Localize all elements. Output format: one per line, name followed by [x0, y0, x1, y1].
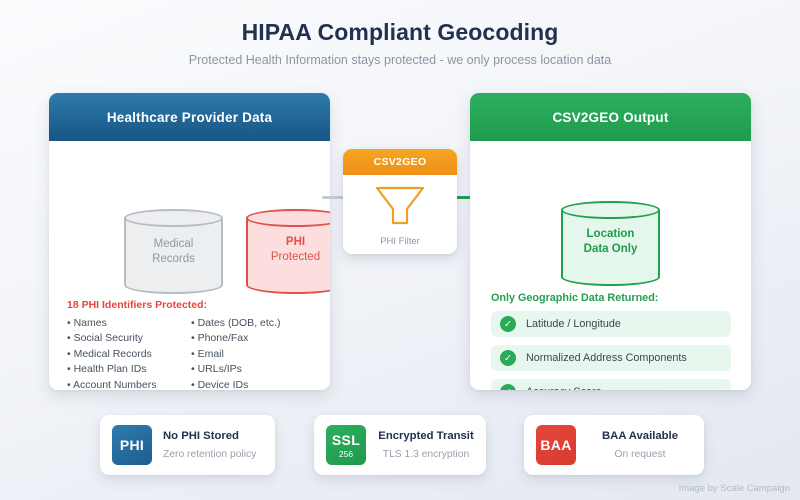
- location-data-cylinder-icon: Location Data Only: [561, 201, 660, 286]
- badge-card-baa-available: BAA BAA Available On request: [524, 415, 704, 475]
- check-circle-icon: ✓: [500, 316, 516, 332]
- badge-title: BAA Available: [584, 429, 696, 444]
- list-item: URLs/IPs: [191, 362, 315, 377]
- geographic-data-list: ✓ Latitude / Longitude ✓ Normalized Addr…: [491, 311, 731, 390]
- badge-card-encrypted-transit: SSL 256 Encrypted Transit TLS 1.3 encryp…: [314, 415, 486, 475]
- list-item: Names: [67, 316, 191, 331]
- list-item-label: Accuracy Score: [526, 386, 602, 390]
- healthcare-provider-panel: Healthcare Provider Data Medical Records…: [49, 93, 330, 390]
- page-subtitle: Protected Health Information stays prote…: [0, 53, 800, 67]
- csv2geo-node-caption: PHI Filter: [343, 236, 457, 247]
- left-panel-header: Healthcare Provider Data: [49, 93, 330, 141]
- medical-records-label: Medical Records: [124, 237, 223, 267]
- list-item: Phone/Fax: [191, 331, 315, 346]
- list-item: Dates (DOB, etc.): [191, 316, 315, 331]
- phi-cylinder-label: PHI Protected: [246, 235, 330, 265]
- phi-cylinder-icon: PHI Protected: [246, 209, 330, 294]
- list-item: Social Security: [67, 331, 191, 346]
- badge-card-no-phi-stored: PHI No PHI Stored Zero retention policy: [100, 415, 275, 475]
- connector-input-line: [322, 196, 344, 199]
- list-item: Medical Records: [67, 347, 191, 362]
- funnel-icon: [374, 185, 426, 226]
- list-item-label: Normalized Address Components: [526, 352, 687, 364]
- phi-identifiers-column-2: Dates (DOB, etc.) Phone/Fax Email URLs/I…: [191, 316, 315, 390]
- badge-title: No PHI Stored: [163, 429, 256, 444]
- right-panel-body: Location Data Only Only Geographic Data …: [470, 141, 751, 390]
- badge-text-group: No PHI Stored Zero retention policy: [163, 429, 256, 462]
- list-item: Health Plan IDs: [67, 362, 191, 377]
- check-circle-icon: ✓: [500, 384, 516, 390]
- baa-badge-icon: BAA: [536, 425, 576, 465]
- phi-identifiers-heading: 18 PHI Identifiers Protected:: [67, 299, 207, 311]
- badge-text-group: Encrypted Transit TLS 1.3 encryption: [374, 429, 478, 462]
- left-panel-body: Medical Records PHI Protected 18 PHI Ide…: [49, 141, 330, 390]
- list-item: ✓ Normalized Address Components: [491, 345, 731, 371]
- csv2geo-node-header: CSV2GEO: [343, 149, 457, 175]
- badge-subtitle: TLS 1.3 encryption: [374, 447, 478, 462]
- ssl-badge-icon: SSL 256: [326, 425, 366, 465]
- list-item-label: Latitude / Longitude: [526, 318, 621, 330]
- list-item: Device IDs: [191, 378, 315, 390]
- phi-badge-icon: PHI: [112, 425, 152, 465]
- right-panel-header: CSV2GEO Output: [470, 93, 751, 141]
- list-item: Email: [191, 347, 315, 362]
- medical-records-cylinder-icon: Medical Records: [124, 209, 223, 294]
- list-item: ✓ Latitude / Longitude: [491, 311, 731, 337]
- list-item: ✓ Accuracy Score: [491, 379, 731, 390]
- badge-subtitle: On request: [584, 447, 696, 462]
- page-title: HIPAA Compliant Geocoding: [0, 19, 800, 46]
- list-item: Account Numbers: [67, 378, 191, 390]
- csv2geo-output-panel: CSV2GEO Output Location Data Only Only G…: [470, 93, 751, 390]
- geographic-data-heading: Only Geographic Data Returned:: [491, 292, 658, 304]
- image-credit: Image by Scale Campaign: [679, 483, 790, 494]
- csv2geo-filter-node: CSV2GEO PHI Filter: [343, 149, 457, 254]
- badge-subtitle: Zero retention policy: [163, 447, 256, 462]
- badge-title: Encrypted Transit: [374, 429, 478, 444]
- badge-text-group: BAA Available On request: [584, 429, 696, 462]
- check-circle-icon: ✓: [500, 350, 516, 366]
- phi-identifiers-column-1: Names Social Security Medical Records He…: [67, 316, 191, 390]
- location-data-label: Location Data Only: [561, 227, 660, 257]
- phi-identifiers-list: Names Social Security Medical Records He…: [67, 316, 315, 390]
